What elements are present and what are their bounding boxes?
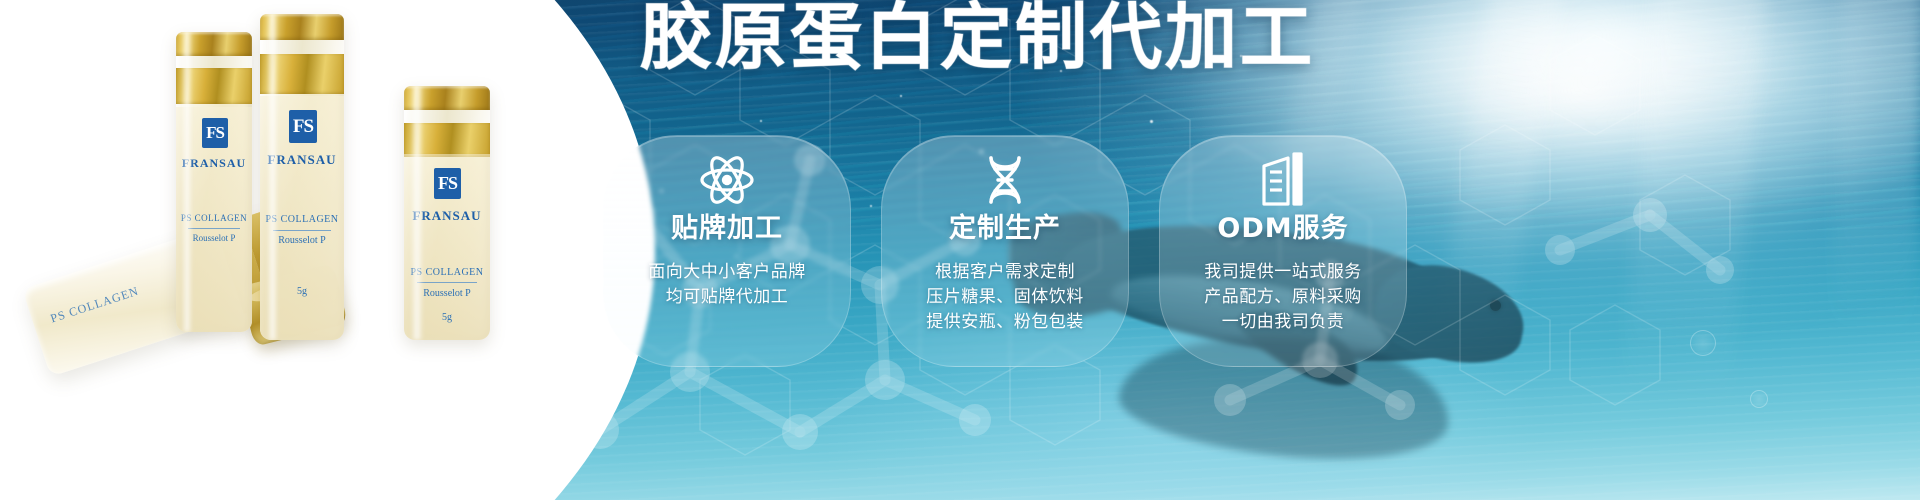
product-vial: FS FRANSAU PS COLLAGEN Rousselot P 5g xyxy=(260,14,344,340)
feature-card-line: 产品配方、原料采购 xyxy=(1204,285,1362,310)
feature-card-title: 贴牌加工 xyxy=(671,212,783,246)
vial-divider xyxy=(273,230,331,231)
feature-card-line: 压片糖果、固体饮料 xyxy=(926,285,1084,310)
vial-divider xyxy=(417,282,477,283)
vial-glare xyxy=(411,86,423,340)
vial-glare xyxy=(267,14,278,340)
feature-card-line: 提供安瓶、粉包包装 xyxy=(926,310,1084,335)
vial-glare xyxy=(182,32,192,332)
fs-logo: FS xyxy=(289,110,317,143)
atom-icon xyxy=(694,150,760,210)
feature-card-line: 面向大中小客户品牌 xyxy=(648,260,806,285)
feature-card-line: 均可贴牌代加工 xyxy=(666,285,789,310)
product-vial: FS FRANSAU PS COLLAGEN Rousselot P xyxy=(176,32,252,332)
feature-card-title: ODM服务 xyxy=(1217,212,1348,246)
fs-logo: FS xyxy=(434,168,461,199)
vial-divider xyxy=(188,228,240,229)
fs-logo: FS xyxy=(202,118,228,148)
feature-card-line: 我司提供一站式服务 xyxy=(1204,260,1362,285)
building-icon xyxy=(1250,150,1316,210)
feature-card-line: 一切由我司负责 xyxy=(1222,310,1345,335)
feature-card-line: 根据客户需求定制 xyxy=(935,260,1075,285)
feature-card-oem[interactable]: 贴牌加工 面向大中小客户品牌 均可贴牌代加工 xyxy=(603,135,851,367)
product-vial: FS FRANSAU PS COLLAGEN Rousselot P 5g xyxy=(404,86,490,340)
feature-card-custom-production[interactable]: 定制生产 根据客户需求定制 压片糖果、固体饮料 提供安瓶、粉包包装 xyxy=(881,135,1129,367)
feature-card-title: 定制生产 xyxy=(949,212,1061,246)
page-title: 胶原蛋白定制代加工 xyxy=(640,0,1280,76)
promo-banner: PS COLLAGEN FS FRANSAU PS COLLAGEN Rouss… xyxy=(0,0,1920,500)
feature-card-list: 贴牌加工 面向大中小客户品牌 均可贴牌代加工 定制生产 根据客户需求定制 压片糖… xyxy=(595,135,1845,383)
dna-icon xyxy=(972,150,1038,210)
vial-product-label: PS COLLAGEN xyxy=(49,284,141,327)
feature-card-odm[interactable]: ODM服务 我司提供一站式服务 产品配方、原料采购 一切由我司负责 xyxy=(1159,135,1407,367)
